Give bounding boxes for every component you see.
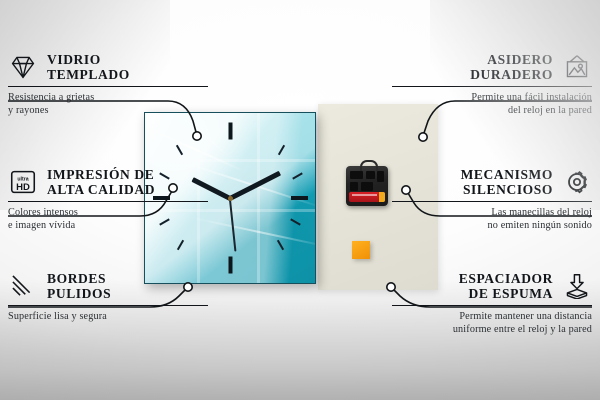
feature-desc-line2: no emiten ningún sonido	[392, 220, 592, 232]
gear-icon	[562, 169, 592, 195]
diamond-icon	[8, 54, 38, 80]
feature-title-line1: ASIDERO	[470, 52, 553, 67]
mechanism-hook	[360, 160, 378, 171]
feature-title-line1: IMPRESIÓN DE	[47, 167, 155, 182]
feature-title-line1: MECANISMO	[461, 167, 553, 182]
feature-desc-line1: Colores intensos	[8, 207, 208, 219]
feature-impresion-alta-calidad: ultra HD IMPRESIÓN DE ALTA CALIDAD Color…	[8, 167, 208, 232]
feature-title-line2: DE ESPUMA	[459, 286, 553, 301]
feature-title-line2: TEMPLADO	[47, 67, 130, 82]
feature-desc-line2: uniforme entre el reloj y la pared	[392, 324, 592, 336]
foam-spacer-icon	[562, 273, 592, 299]
divider	[392, 305, 592, 306]
feature-espaciador-de-espuma: ESPACIADOR DE ESPUMA Permite mantener un…	[392, 271, 592, 336]
feature-title-line2: ALTA CALIDAD	[47, 182, 155, 197]
clock-center-pin	[228, 196, 233, 201]
clock-mechanism	[346, 166, 388, 206]
feature-vidrio-templado: VIDRIO TEMPLADO Resistencia a grietas y …	[8, 52, 208, 117]
feature-mecanismo-silencioso: MECANISMO SILENCIOSO Las manecillas del …	[392, 167, 592, 232]
divider	[8, 86, 208, 87]
battery	[349, 192, 385, 202]
divider	[8, 305, 208, 306]
clock-minute-hand	[227, 170, 281, 201]
divider	[392, 86, 592, 87]
feature-desc-line1: Permite mantener una distancia	[392, 311, 592, 323]
feature-desc-line2: y rayones	[8, 105, 208, 117]
feature-title-line1: ESPACIADOR	[459, 271, 553, 286]
feature-desc-line1: Las manecillas del reloj	[392, 207, 592, 219]
feature-title-line2: SILENCIOSO	[461, 182, 553, 197]
feature-bordes-pulidos: BORDES PULIDOS Superficie lisa y segura	[8, 271, 208, 324]
feature-desc-line2: e imagen vívida	[8, 220, 208, 232]
feature-title-line2: DURADERO	[470, 67, 553, 82]
hanging-frame-icon	[562, 54, 592, 80]
feature-desc-line1: Permite una fácil instalación	[392, 92, 592, 104]
feature-title-line2: PULIDOS	[47, 286, 111, 301]
polished-edges-icon	[8, 273, 38, 299]
svg-text:HD: HD	[16, 182, 30, 193]
feature-desc-line1: Resistencia a grietas	[8, 92, 208, 104]
ultra-hd-icon: ultra HD	[8, 169, 38, 195]
foam-spacer	[352, 241, 370, 259]
feature-title-line1: BORDES	[47, 271, 111, 286]
divider	[8, 201, 208, 202]
divider	[392, 201, 592, 202]
feature-asidero-duradero: ASIDERO DURADERO Permite una fácil insta…	[392, 52, 592, 117]
feature-title-line1: VIDRIO	[47, 52, 130, 67]
feature-desc-line1: Superficie lisa y segura	[8, 311, 208, 323]
feature-desc-line2: del reloj en la pared	[392, 105, 592, 117]
infographic-canvas: VIDRIO TEMPLADO Resistencia a grietas y …	[0, 0, 600, 400]
